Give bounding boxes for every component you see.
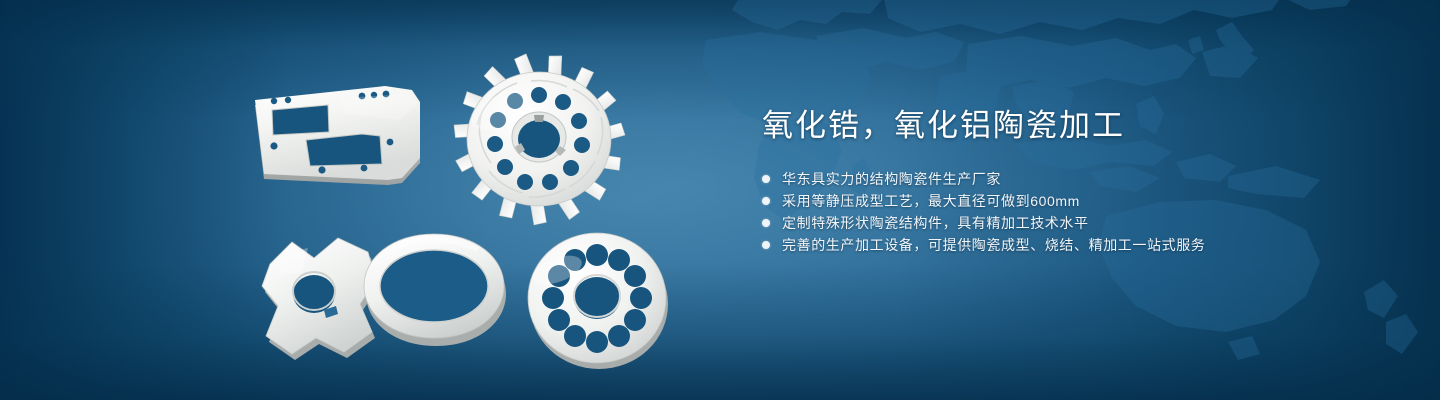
bullet-dot-icon bbox=[762, 241, 770, 249]
ceramic-impeller-disc bbox=[452, 55, 627, 223]
list-item: 采用等静压成型工艺，最大直径可做到600mm bbox=[762, 190, 1402, 212]
feature-bullet-list: 华东具实力的结构陶瓷件生产厂家 采用等静压成型工艺，最大直径可做到600mm 定… bbox=[762, 168, 1402, 256]
hero-banner: 氧化锆，氧化铝陶瓷加工 华东具实力的结构陶瓷件生产厂家 采用等静压成型工艺，最大… bbox=[0, 0, 1440, 400]
ceramic-perforated-disc bbox=[524, 228, 674, 373]
bullet-text: 采用等静压成型工艺，最大直径可做到600mm bbox=[782, 190, 1080, 212]
bullet-text: 定制特殊形状陶瓷结构件，具有精加工技术水平 bbox=[782, 212, 1089, 234]
bullet-dot-icon bbox=[762, 219, 770, 227]
bullet-text: 华东具实力的结构陶瓷件生产厂家 bbox=[782, 168, 1001, 190]
list-item: 定制特殊形状陶瓷结构件，具有精加工技术水平 bbox=[762, 212, 1402, 234]
list-item: 完善的生产加工设备，可提供陶瓷成型、烧结、精加工一站式服务 bbox=[762, 234, 1402, 256]
ceramic-products-group bbox=[0, 0, 720, 400]
ceramic-ring bbox=[358, 230, 513, 355]
bullet-dot-icon bbox=[762, 197, 770, 205]
banner-headline: 氧化锆，氧化铝陶瓷加工 bbox=[762, 104, 1402, 148]
ceramic-machined-plate bbox=[250, 80, 430, 195]
list-item: 华东具实力的结构陶瓷件生产厂家 bbox=[762, 168, 1402, 190]
bullet-text: 完善的生产加工设备，可提供陶瓷成型、烧结、精加工一站式服务 bbox=[782, 234, 1205, 256]
bullet-dot-icon bbox=[762, 175, 770, 183]
banner-copy: 氧化锆，氧化铝陶瓷加工 华东具实力的结构陶瓷件生产厂家 采用等静压成型工艺，最大… bbox=[762, 104, 1402, 256]
